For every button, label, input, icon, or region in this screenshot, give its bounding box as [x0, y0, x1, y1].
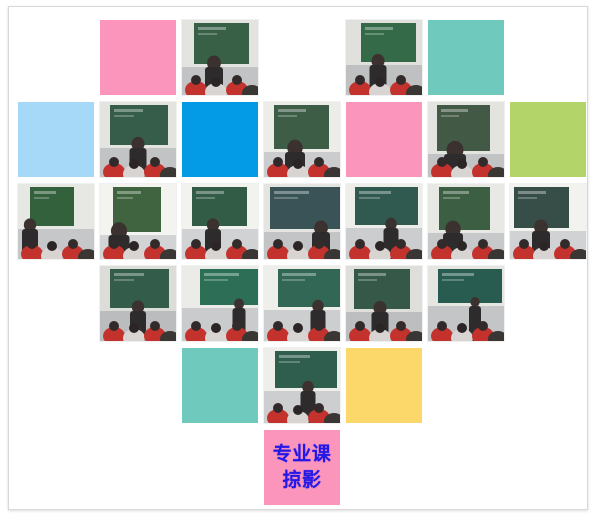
collage-color-tile-light-blue-swatch[interactable] [18, 102, 94, 177]
collage-cell-empty [510, 348, 586, 423]
photo-placeholder-graphic [346, 184, 422, 259]
collage-color-tile-yellow-swatch[interactable] [346, 348, 422, 423]
collage-frame: 专业课 掠影 [8, 6, 588, 510]
collage-photo-teacher-pointing-at-wall-chart[interactable] [428, 266, 504, 341]
collage-color-tile-teal-swatch[interactable] [428, 20, 504, 95]
collage-photo-teacher-walking-computer-lab[interactable] [428, 184, 504, 259]
collage-photo-computer-lab-row-of-students[interactable] [346, 184, 422, 259]
photo-placeholder-graphic [428, 266, 504, 341]
collage-cell-empty [18, 430, 94, 505]
collage-photo-students-working-in-groups[interactable] [264, 266, 340, 341]
photo-placeholder-graphic [264, 184, 340, 259]
photo-placeholder-graphic [182, 184, 258, 259]
collage-photo-teacher-at-interactive-display[interactable] [182, 266, 258, 341]
collage-grid: 专业课 掠影 [18, 20, 580, 505]
collage-photo-teacher-demonstrating-to-class[interactable] [428, 102, 504, 177]
photo-placeholder-graphic [428, 102, 504, 177]
photo-placeholder-graphic [346, 20, 422, 95]
collage-cell-empty [18, 20, 94, 95]
collage-cell-empty [264, 20, 340, 95]
collage-photo-lecture-with-seated-students[interactable] [264, 184, 340, 259]
collage-color-tile-pink-swatch[interactable] [100, 20, 176, 95]
collage-photo-classroom-with-whiteboard-display[interactable] [510, 184, 586, 259]
collage-color-tile-pink-swatch[interactable] [346, 102, 422, 177]
collage-cell-empty [510, 20, 586, 95]
collage-title-text: 专业课 掠影 [273, 442, 332, 492]
photo-placeholder-graphic [100, 266, 176, 341]
photo-placeholder-graphic [510, 184, 586, 259]
collage-cell-empty [18, 348, 94, 423]
collage-cell-empty [510, 266, 586, 341]
collage-cell-empty [18, 266, 94, 341]
collage-photo-classroom-students-in-red-uniforms[interactable] [264, 102, 340, 177]
photo-placeholder-graphic [182, 20, 258, 95]
photo-placeholder-graphic [100, 184, 176, 259]
collage-photo-teacher-in-equipment-room[interactable] [100, 266, 176, 341]
collage-photo-teacher-writing-on-chalkboard[interactable] [264, 348, 340, 423]
collage-color-tile-bright-blue-swatch[interactable] [182, 102, 258, 177]
collage-photo-student-at-computer-monitor[interactable] [182, 184, 258, 259]
collage-title-tile[interactable]: 专业课 掠影 [264, 430, 340, 505]
collage-cell-empty [346, 430, 422, 505]
photo-placeholder-graphic [100, 102, 176, 177]
collage-cell-empty [100, 348, 176, 423]
photo-placeholder-graphic [18, 184, 94, 259]
collage-photo-teacher-at-green-chalkboard[interactable] [182, 20, 258, 95]
photo-placeholder-graphic [346, 266, 422, 341]
collage-photo-students-watching-smartboard[interactable] [18, 184, 94, 259]
collage-cell-empty [428, 348, 504, 423]
collage-photo-teacher-beside-projection-screen[interactable] [346, 20, 422, 95]
photo-placeholder-graphic [182, 266, 258, 341]
photo-placeholder-graphic [264, 266, 340, 341]
collage-color-tile-teal-swatch[interactable] [182, 348, 258, 423]
collage-photo-students-facing-projection-screen[interactable] [346, 266, 422, 341]
collage-color-tile-yellow-green-swatch[interactable] [510, 102, 586, 177]
photo-placeholder-graphic [428, 184, 504, 259]
collage-cell-empty [182, 430, 258, 505]
collage-photo-teacher-helping-student-at-desk[interactable] [100, 102, 176, 177]
photo-placeholder-graphic [264, 102, 340, 177]
collage-cell-empty [428, 430, 504, 505]
collage-cell-empty [510, 430, 586, 505]
collage-cell-empty [100, 430, 176, 505]
photo-placeholder-graphic [264, 348, 340, 423]
collage-photo-teacher-presenting-wall-posters[interactable] [100, 184, 176, 259]
